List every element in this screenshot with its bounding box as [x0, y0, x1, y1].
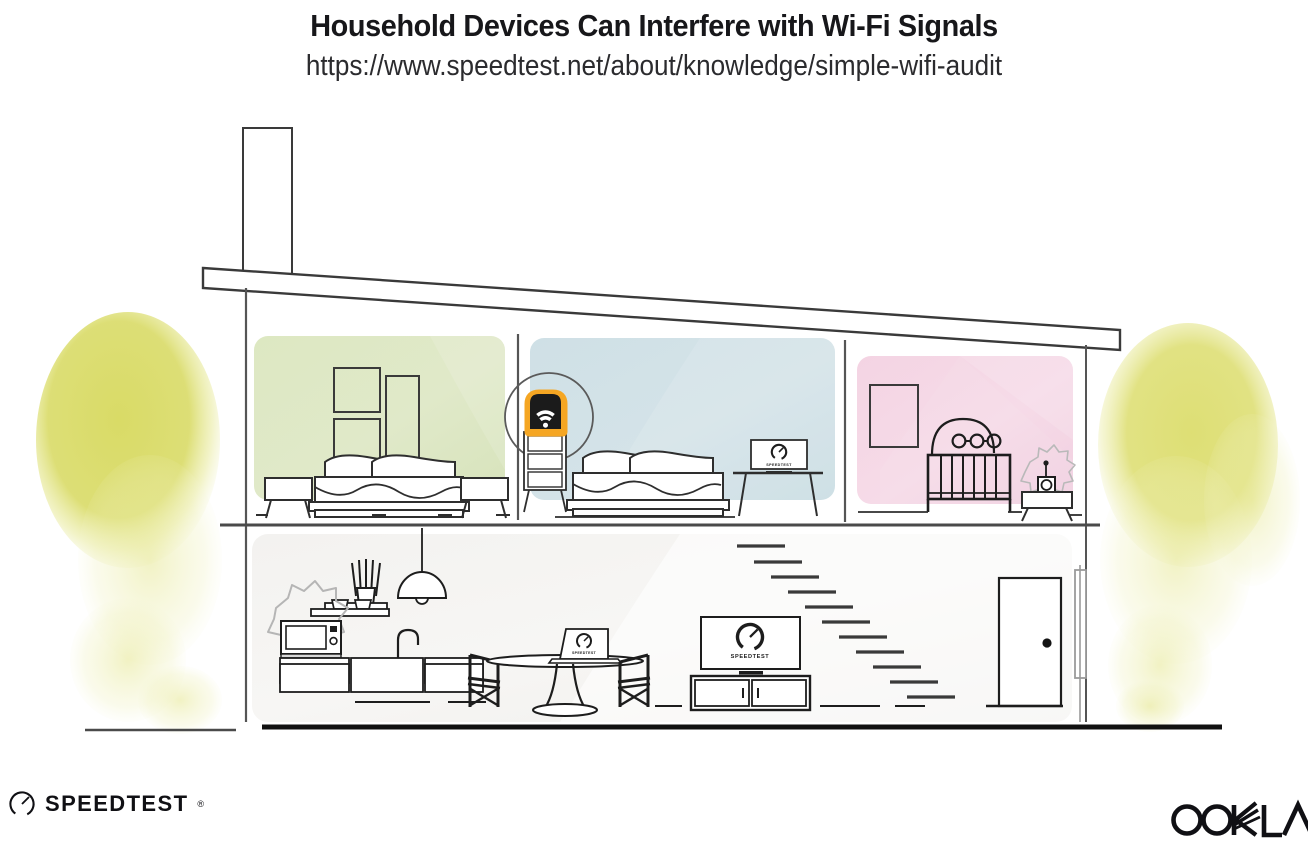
infographic-canvas: Household Devices Can Interfere with Wi-…	[0, 0, 1308, 861]
nursery-side-table	[1022, 492, 1072, 521]
monitor-speedtest: SPEEDTEST	[751, 440, 807, 474]
speedtest-gauge-icon	[8, 790, 36, 818]
room-green-bedroom	[254, 336, 510, 518]
wifi-router[interactable]	[529, 394, 563, 432]
television-speedtest: SPEEDTEST	[701, 617, 800, 675]
speedtest-registered-mark: ®	[197, 799, 204, 809]
foliage-right	[1098, 323, 1300, 732]
media-console	[691, 676, 810, 710]
ookla-logo-mark	[1164, 794, 1308, 840]
side-window	[1075, 565, 1086, 722]
bed-blue	[567, 451, 729, 516]
laptop-caption: SPEEDTEST	[572, 651, 597, 655]
room-blue-bedroom: SPEEDTEST	[530, 338, 835, 517]
tv-caption: SPEEDTEST	[731, 654, 770, 660]
room-ground-floor	[252, 534, 1072, 722]
wall-shelf-middle	[311, 609, 389, 616]
ground-line	[85, 727, 1222, 730]
microwave	[281, 621, 341, 658]
kitchen-counters	[280, 658, 483, 692]
door-knob[interactable]	[1042, 638, 1051, 647]
speedtest-logo[interactable]: SPEEDTEST ®	[8, 790, 204, 818]
chimney	[243, 128, 292, 280]
footer: SPEEDTEST ® OOKLA	[0, 790, 1308, 850]
house-cutaway-illustration: SPEEDTEST	[0, 0, 1308, 861]
ookla-logo[interactable]: OOKLA	[1164, 794, 1308, 845]
monitor-caption: SPEEDTEST	[766, 463, 792, 467]
speedtest-wordmark: SPEEDTEST	[45, 791, 188, 817]
bed-green	[309, 455, 469, 517]
nightstand-left	[265, 478, 312, 518]
foliage-left	[36, 312, 222, 734]
room-pink-nursery	[857, 356, 1082, 521]
